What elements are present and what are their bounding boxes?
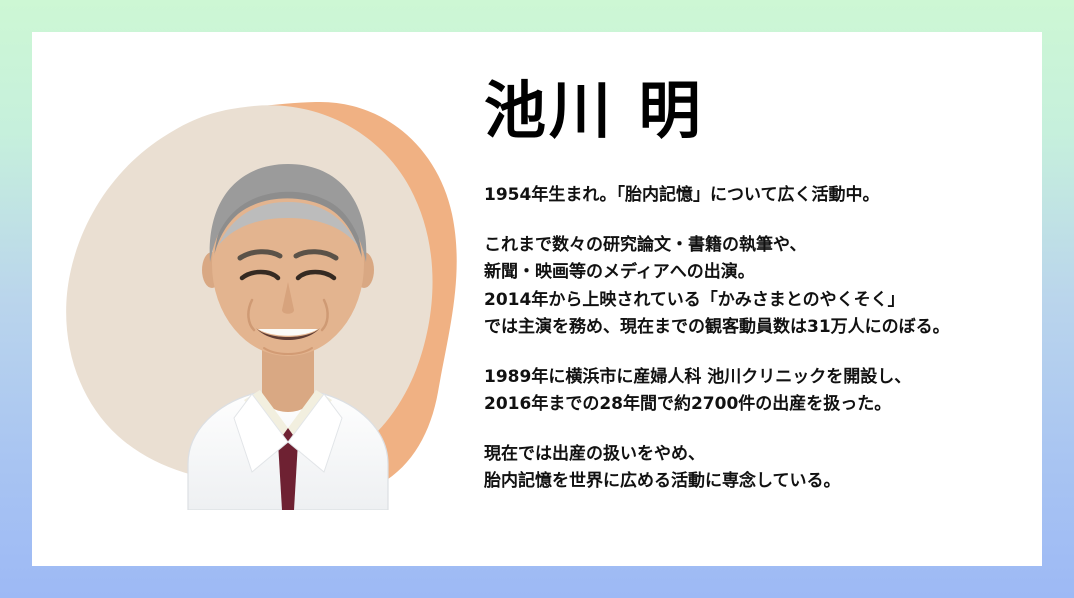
- text-column: 池川 明 1954年生まれ。「胎内記憶」について広く活動中。 これまで数々の研究…: [484, 62, 1024, 496]
- bio-line: 2016年までの28年間で約2700件の出産を扱った。: [484, 391, 1024, 419]
- profile-card: 池川 明 1954年生まれ。「胎内記憶」について広く活動中。 これまで数々の研究…: [32, 32, 1042, 566]
- slide-background: 池川 明 1954年生まれ。「胎内記憶」について広く活動中。 これまで数々の研究…: [0, 0, 1074, 598]
- portrait-photo: [148, 142, 428, 510]
- bio-line: 1989年に横浜市に産婦人科 池川クリニックを開設し、: [484, 364, 1024, 392]
- bio-line: 2014年から上映されている「かみさまとのやくそく」: [484, 287, 1024, 315]
- bio-line: では主演を務め、現在までの観客動員数は31万人にのぼる。: [484, 314, 1024, 342]
- bio-paragraph-media: これまで数々の研究論文・書籍の執筆や、 新聞・映画等のメディアへの出演。 201…: [484, 232, 1024, 342]
- bio-line: 1954年生まれ。「胎内記憶」について広く活動中。: [484, 182, 1024, 210]
- biography: 1954年生まれ。「胎内記憶」について広く活動中。 これまで数々の研究論文・書籍…: [484, 182, 1024, 496]
- bio-paragraph-intro: 1954年生まれ。「胎内記憶」について広く活動中。: [484, 182, 1024, 210]
- portrait-area: [56, 90, 476, 510]
- bio-line: これまで数々の研究論文・書籍の執筆や、: [484, 232, 1024, 260]
- bio-line: 新聞・映画等のメディアへの出演。: [484, 259, 1024, 287]
- bio-paragraph-current: 現在では出産の扱いをやめ、 胎内記憶を世界に広める活動に専念している。: [484, 441, 1024, 496]
- bio-line: 胎内記憶を世界に広める活動に専念している。: [484, 468, 1024, 496]
- page-title: 池川 明: [484, 62, 1024, 142]
- bio-paragraph-clinic: 1989年に横浜市に産婦人科 池川クリニックを開設し、 2016年までの28年間…: [484, 364, 1024, 419]
- bio-line: 現在では出産の扱いをやめ、: [484, 441, 1024, 469]
